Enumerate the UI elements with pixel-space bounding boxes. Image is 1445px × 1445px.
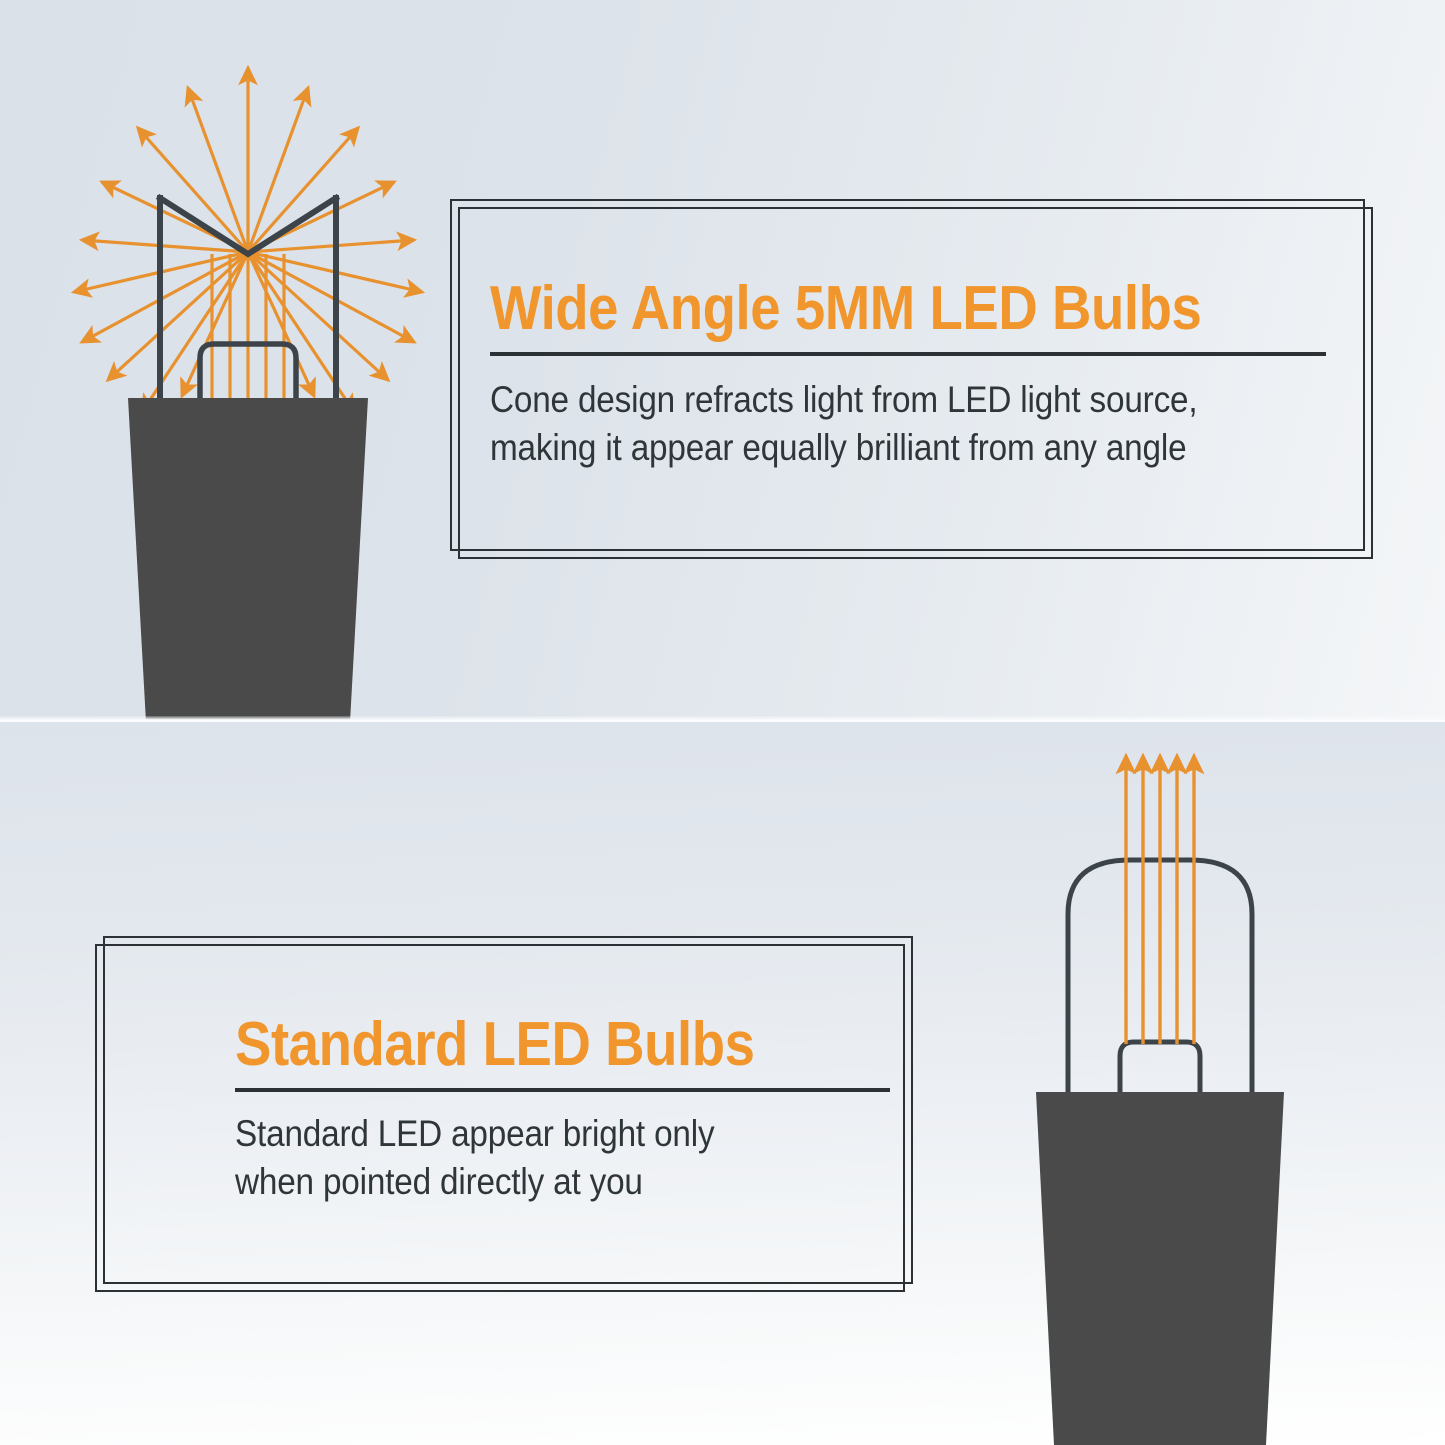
title-divider-rule [490, 352, 1326, 356]
light-ray [138, 128, 248, 252]
card-body-wide-angle: Cone design refracts light from LED ligh… [490, 376, 1327, 472]
card-body-line: making it appear equally brilliant from … [490, 424, 1327, 472]
light-ray [248, 252, 314, 396]
card-title-standard: Standard LED Bulbs [235, 1014, 944, 1076]
card-body-line: when pointed directly at you [235, 1158, 865, 1206]
card-body-line: Standard LED appear bright only [235, 1110, 865, 1158]
light-ray [182, 252, 248, 396]
title-divider-rule [235, 1088, 890, 1092]
card-standard: Standard LED Bulbs Standard LED appear b… [103, 936, 913, 1284]
panel-wide-angle: Wide Angle 5MM LED Bulbs Cone design ref… [0, 0, 1445, 722]
light-ray [248, 128, 358, 252]
bulb-base [1036, 1092, 1284, 1445]
wide-angle-led-bulb-illustration [60, 40, 460, 722]
bulb-base [128, 398, 368, 722]
card-wide-angle: Wide Angle 5MM LED Bulbs Cone design ref… [450, 199, 1365, 551]
card-body-standard: Standard LED appear bright only when poi… [235, 1110, 865, 1206]
card-body-line: Cone design refracts light from LED ligh… [490, 376, 1327, 424]
infographic-page: Wide Angle 5MM LED Bulbs Cone design ref… [0, 0, 1445, 1445]
standard-led-bulb-illustration [980, 742, 1340, 1445]
led-die [1120, 1042, 1200, 1092]
card-title-wide-angle: Wide Angle 5MM LED Bulbs [490, 278, 1292, 340]
panel-standard: Standard LED Bulbs Standard LED appear b… [0, 722, 1445, 1445]
light-ray-group [1126, 756, 1194, 1044]
